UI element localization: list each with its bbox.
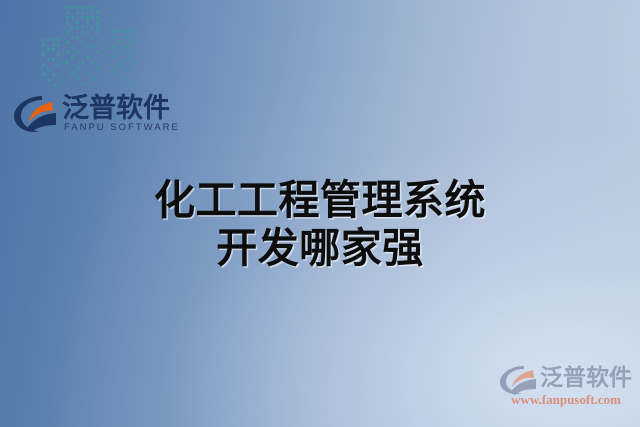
watermark-wordmark-cn-svg: 泛普软件 <box>540 362 634 392</box>
page-title-line-2: 开发哪家强 <box>0 224 640 272</box>
watermark-wordmark-cn: 泛普软件 <box>540 362 634 392</box>
brand-wordmark-cn-svg: 泛普软件 <box>62 91 174 125</box>
page-title: 化工工程管理系统 开发哪家强 <box>0 176 640 272</box>
watermark-wordmark-cn-text: 泛普软件 <box>540 364 632 391</box>
pixel-skyline-pattern <box>40 0 170 94</box>
fanpu-logo-mark-svg <box>12 94 58 134</box>
watermark: 泛普软件 www.fanpusoft.com <box>498 362 634 414</box>
page-title-line-1: 化工工程管理系统 <box>0 176 640 224</box>
logo-lower-wedge <box>26 113 56 132</box>
watermark-url: www.fanpusoft.com <box>498 392 634 407</box>
slide-canvas: 泛普软件 FANPU SOFTWARE 化工工程管理系统 开发哪家强 泛普软件 … <box>0 0 640 427</box>
skyline-pixels <box>42 6 135 87</box>
brand-wordmark-cn: 泛普软件 <box>62 91 174 125</box>
fanpu-logo-mark <box>12 94 58 134</box>
brand-wordmark-cn-text: 泛普软件 <box>62 92 170 124</box>
brand-logo: 泛普软件 FANPU SOFTWARE <box>12 92 174 144</box>
pixel-skyline-svg <box>40 0 170 94</box>
brand-wordmark-latin: FANPU SOFTWARE <box>64 122 180 134</box>
